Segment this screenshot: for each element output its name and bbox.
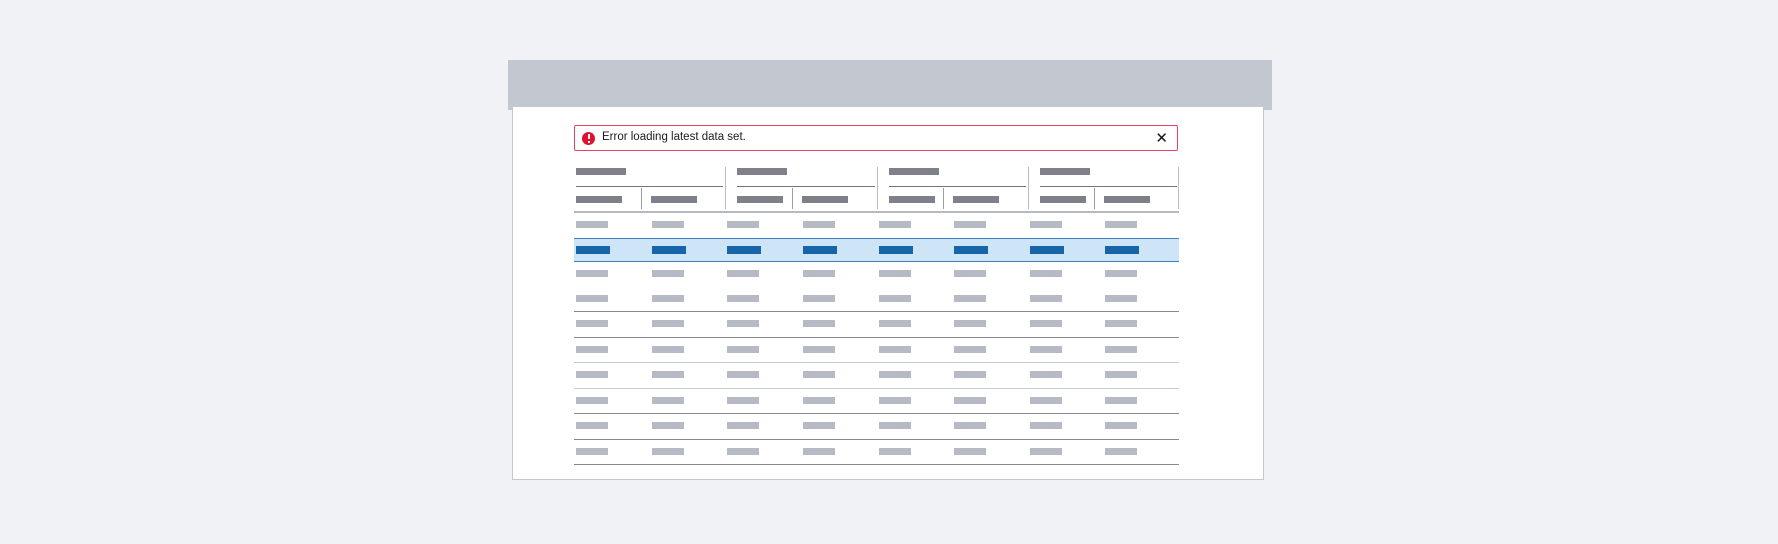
table-row[interactable] bbox=[574, 389, 1179, 415]
cell-skeleton-bar bbox=[803, 448, 835, 455]
column-group-divider bbox=[725, 167, 726, 209]
error-banner: Error loading latest data set. ✕ bbox=[574, 125, 1178, 151]
subcolumn-divider bbox=[792, 188, 793, 209]
cell-skeleton-bar bbox=[1030, 422, 1062, 429]
cell-skeleton-bar bbox=[803, 295, 835, 302]
subcolumn-header-skeleton[interactable] bbox=[1104, 196, 1150, 203]
cell-skeleton-bar bbox=[954, 397, 986, 404]
column-group-divider bbox=[877, 167, 878, 209]
column-group-title-skeleton bbox=[889, 168, 939, 175]
column-group-rule bbox=[576, 186, 723, 187]
cell-skeleton-bar bbox=[803, 270, 835, 277]
error-circle-icon bbox=[582, 132, 595, 145]
table-row[interactable] bbox=[574, 440, 1179, 466]
cell-skeleton-bar bbox=[576, 320, 608, 327]
cell-skeleton-bar bbox=[1030, 221, 1062, 228]
cell-skeleton-bar bbox=[1030, 295, 1062, 302]
cell-skeleton-bar bbox=[879, 221, 911, 228]
cell-skeleton-bar bbox=[954, 295, 986, 302]
subcolumn-header-skeleton[interactable] bbox=[1040, 196, 1086, 203]
cell-skeleton-bar bbox=[576, 270, 608, 277]
cell-skeleton-bar bbox=[954, 371, 986, 378]
error-message-text: Error loading latest data set. bbox=[602, 132, 1154, 144]
cell-skeleton-bar bbox=[879, 320, 911, 327]
cell-skeleton-bar bbox=[1105, 295, 1137, 302]
cell-skeleton-bar bbox=[652, 448, 684, 455]
cell-skeleton-bar bbox=[576, 346, 608, 353]
cell-skeleton-bar bbox=[879, 448, 911, 455]
cell-skeleton-bar bbox=[576, 371, 608, 378]
cell-skeleton-bar bbox=[727, 448, 759, 455]
cell-skeleton-bar bbox=[879, 270, 911, 277]
cell-skeleton-bar bbox=[954, 422, 986, 429]
cell-skeleton-bar bbox=[954, 246, 988, 254]
cell-skeleton-bar bbox=[1105, 448, 1137, 455]
column-group-title-skeleton bbox=[1040, 168, 1090, 175]
cell-skeleton-bar bbox=[1030, 270, 1062, 277]
cell-skeleton-bar bbox=[652, 270, 684, 277]
cell-skeleton-bar bbox=[803, 346, 835, 353]
cell-skeleton-bar bbox=[879, 422, 911, 429]
skeleton-data-table bbox=[574, 165, 1179, 465]
subcolumn-divider bbox=[1094, 188, 1095, 209]
table-row[interactable] bbox=[574, 287, 1179, 313]
cell-skeleton-bar bbox=[1030, 346, 1062, 353]
cell-skeleton-bar bbox=[803, 397, 835, 404]
cell-skeleton-bar bbox=[652, 371, 684, 378]
cell-skeleton-bar bbox=[576, 448, 608, 455]
cell-skeleton-bar bbox=[879, 371, 911, 378]
window-titlebar bbox=[508, 60, 1272, 110]
cell-skeleton-bar bbox=[1105, 346, 1137, 353]
cell-skeleton-bar bbox=[727, 346, 759, 353]
table-header bbox=[574, 165, 1179, 211]
table-header-end-divider bbox=[1178, 167, 1179, 209]
cell-skeleton-bar bbox=[652, 246, 686, 254]
table-row-selected[interactable] bbox=[574, 238, 1179, 263]
cell-skeleton-bar bbox=[803, 371, 835, 378]
subcolumn-header-skeleton[interactable] bbox=[953, 196, 999, 203]
cell-skeleton-bar bbox=[1105, 270, 1137, 277]
table-body bbox=[574, 213, 1179, 465]
column-group[interactable] bbox=[877, 165, 1028, 211]
cell-skeleton-bar bbox=[1105, 320, 1137, 327]
cell-skeleton-bar bbox=[879, 346, 911, 353]
column-group[interactable] bbox=[574, 165, 725, 211]
cell-skeleton-bar bbox=[879, 397, 911, 404]
cell-skeleton-bar bbox=[954, 221, 986, 228]
cell-skeleton-bar bbox=[727, 422, 759, 429]
cell-skeleton-bar bbox=[1030, 246, 1064, 254]
cell-skeleton-bar bbox=[803, 221, 835, 228]
subcolumn-header-skeleton[interactable] bbox=[802, 196, 848, 203]
cell-skeleton-bar bbox=[652, 221, 684, 228]
cell-skeleton-bar bbox=[803, 246, 837, 254]
cell-skeleton-bar bbox=[1030, 371, 1062, 378]
close-icon[interactable]: ✕ bbox=[1154, 131, 1169, 146]
column-group-title-skeleton bbox=[737, 168, 787, 175]
cell-skeleton-bar bbox=[576, 221, 608, 228]
cell-skeleton-bar bbox=[727, 221, 759, 228]
cell-skeleton-bar bbox=[576, 422, 608, 429]
cell-skeleton-bar bbox=[1030, 448, 1062, 455]
subcolumn-header-skeleton[interactable] bbox=[889, 196, 935, 203]
cell-skeleton-bar bbox=[1030, 397, 1062, 404]
column-group-rule bbox=[1040, 186, 1177, 187]
cell-skeleton-bar bbox=[652, 397, 684, 404]
application-window: Error loading latest data set. ✕ bbox=[508, 60, 1272, 488]
cell-skeleton-bar bbox=[576, 295, 608, 302]
table-row[interactable] bbox=[574, 312, 1179, 338]
cell-skeleton-bar bbox=[1105, 397, 1137, 404]
cell-skeleton-bar bbox=[576, 246, 610, 254]
column-group-rule bbox=[737, 186, 874, 187]
cell-skeleton-bar bbox=[727, 270, 759, 277]
cell-skeleton-bar bbox=[803, 320, 835, 327]
subcolumn-header-skeleton[interactable] bbox=[651, 196, 697, 203]
cell-skeleton-bar bbox=[652, 422, 684, 429]
cell-skeleton-bar bbox=[727, 371, 759, 378]
cell-skeleton-bar bbox=[954, 270, 986, 277]
cell-skeleton-bar bbox=[1105, 246, 1139, 254]
column-group-divider bbox=[1028, 167, 1029, 209]
column-group[interactable] bbox=[725, 165, 876, 211]
cell-skeleton-bar bbox=[954, 448, 986, 455]
table-row[interactable] bbox=[574, 363, 1179, 389]
subcolumn-header-skeleton[interactable] bbox=[737, 196, 783, 203]
cell-skeleton-bar bbox=[652, 346, 684, 353]
table-row[interactable] bbox=[574, 414, 1179, 440]
cell-skeleton-bar bbox=[727, 397, 759, 404]
column-group-title-skeleton bbox=[576, 168, 626, 175]
cell-skeleton-bar bbox=[576, 397, 608, 404]
cell-skeleton-bar bbox=[803, 422, 835, 429]
subcolumn-divider bbox=[943, 188, 944, 209]
cell-skeleton-bar bbox=[1105, 371, 1137, 378]
table-row[interactable] bbox=[574, 338, 1179, 364]
cell-skeleton-bar bbox=[954, 346, 986, 353]
subcolumn-header-skeleton[interactable] bbox=[576, 196, 622, 203]
column-group-rule bbox=[889, 186, 1026, 187]
cell-skeleton-bar bbox=[1105, 221, 1137, 228]
cell-skeleton-bar bbox=[954, 320, 986, 327]
subcolumn-divider bbox=[641, 188, 642, 209]
cell-skeleton-bar bbox=[652, 295, 684, 302]
cell-skeleton-bar bbox=[1030, 320, 1062, 327]
cell-skeleton-bar bbox=[1105, 422, 1137, 429]
column-group[interactable] bbox=[1028, 165, 1179, 211]
cell-skeleton-bar bbox=[652, 320, 684, 327]
cell-skeleton-bar bbox=[879, 295, 911, 302]
cell-skeleton-bar bbox=[727, 320, 759, 327]
cell-skeleton-bar bbox=[727, 246, 761, 254]
table-row[interactable] bbox=[574, 262, 1179, 287]
table-row[interactable] bbox=[574, 213, 1179, 238]
cell-skeleton-bar bbox=[727, 295, 759, 302]
cell-skeleton-bar bbox=[879, 246, 913, 254]
